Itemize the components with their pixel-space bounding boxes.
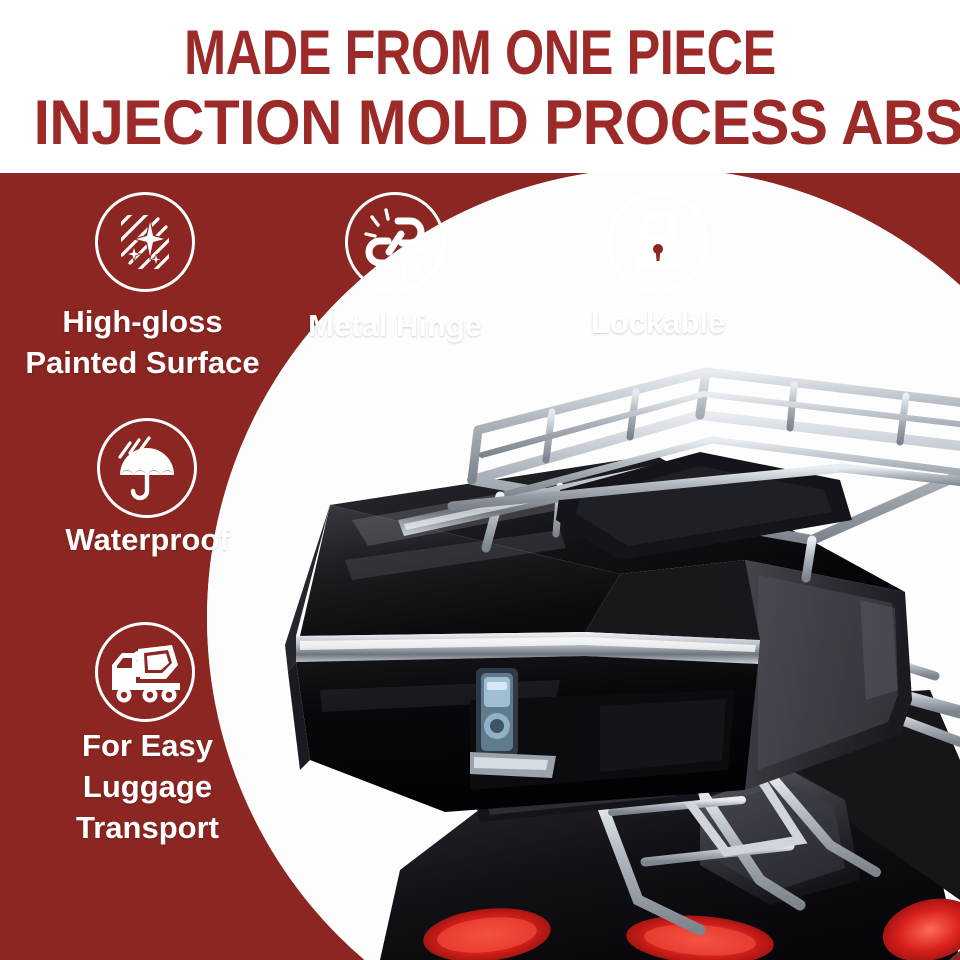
title-line-1: MADE FROM ONE PIECE	[96, 22, 864, 85]
title-line-2: INJECTION MOLD PROCESS ABS	[34, 92, 927, 155]
glossy-surface-icon-glyph	[98, 195, 192, 289]
product-photo-circle	[207, 168, 960, 960]
chain-link-icon-glyph	[348, 195, 442, 289]
umbrella-rain-icon-glyph	[100, 421, 194, 515]
padlock-icon	[608, 192, 708, 292]
feature-label-high-gloss: High-gloss Painted Surface	[0, 302, 285, 384]
mixer-truck-icon-glyph	[98, 625, 192, 719]
header-banner: MADE FROM ONE PIECE INJECTION MOLD PROCE…	[0, 0, 960, 173]
feature-label-waterproof: Waterproof	[10, 520, 285, 561]
mixer-truck-icon	[95, 622, 195, 722]
chain-link-icon	[345, 192, 445, 292]
product-photo	[207, 168, 960, 960]
feature-label-metal-hinge: Metal Hinge	[275, 306, 515, 347]
feature-label-luggage-transport: For Easy Luggage Transport	[20, 726, 275, 849]
padlock-icon-glyph	[611, 195, 705, 289]
umbrella-rain-icon	[97, 418, 197, 518]
product-photo-artwork	[207, 168, 960, 960]
feature-label-lockable: Lockable	[538, 303, 778, 344]
glossy-surface-icon	[95, 192, 195, 292]
infographic-page: High-gloss Painted Surface	[0, 0, 960, 960]
